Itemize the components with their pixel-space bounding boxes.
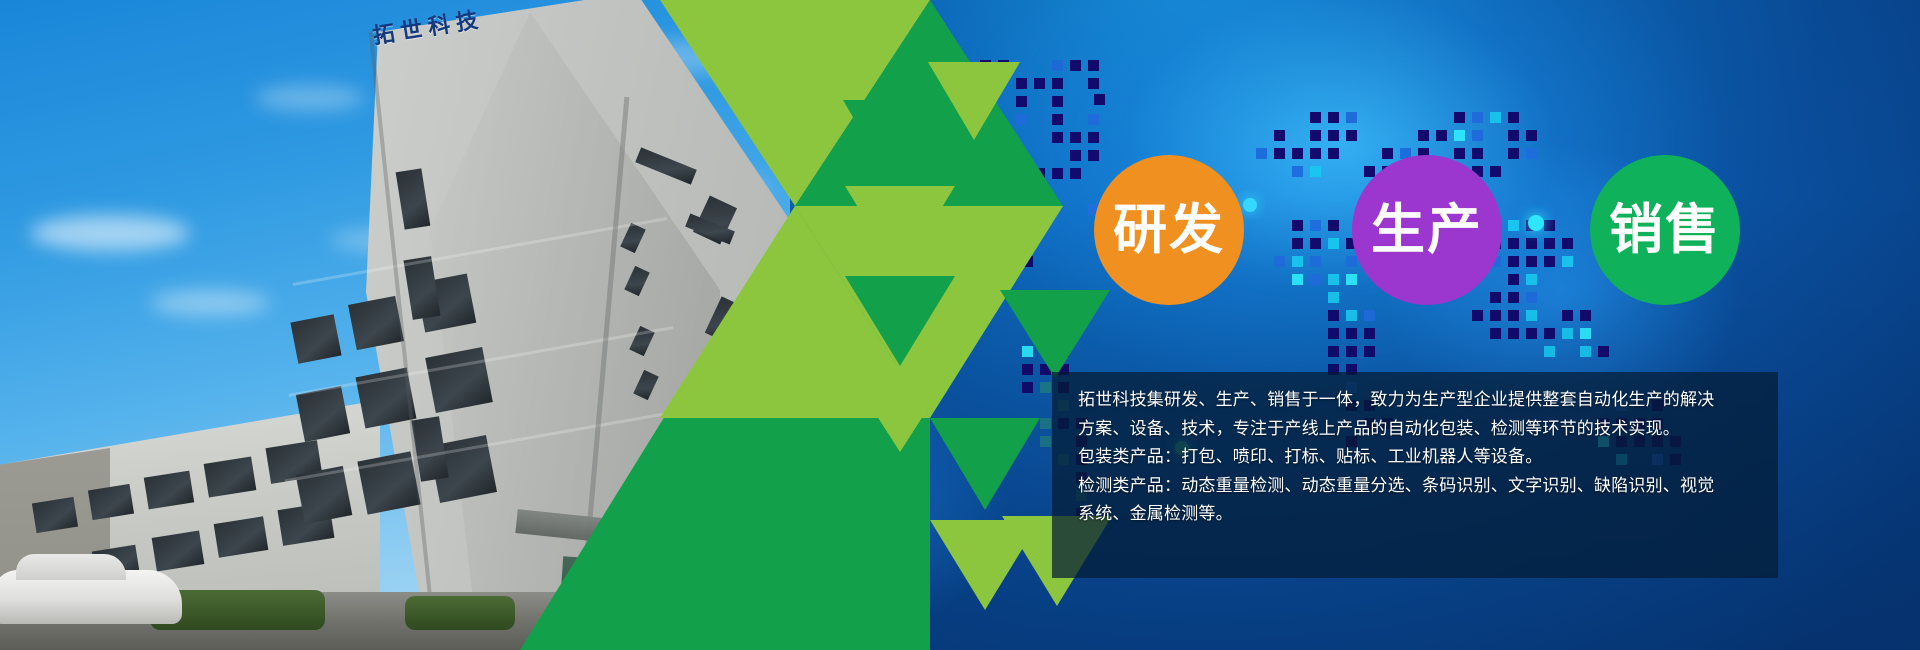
description-line-5: 系统、金属检测等。 [1078,500,1768,529]
circle-badge-rd[interactable]: 研发 [1094,155,1244,305]
factory-photo: 拓世科技 [0,0,790,650]
circle-label-production: 生产 [1371,203,1483,257]
cloud [30,215,190,251]
hedge [405,596,515,630]
description-line-1: 拓世科技集研发、生产、销售于一体，致力为生产型企业提供整套自动化生产的解决 [1078,386,1768,415]
description-line-3: 包装类产品：打包、喷印、打标、贴标、工业机器人等设备。 [1078,443,1768,472]
circle-badge-sales[interactable]: 销售 [1590,155,1740,305]
cloud [150,290,270,316]
circle-label-sales: 销售 [1609,203,1721,257]
description-text: 拓世科技集研发、生产、销售于一体，致力为生产型企业提供整套自动化生产的解决 方案… [1078,386,1768,529]
window [296,386,350,442]
window [290,314,341,364]
window [348,296,404,350]
window [425,347,493,413]
company-banner: 拓世科技 [0,0,1920,650]
description-line-2: 方案、设备、技术，专注于产线上产品的自动化包装、检测等环节的技术实现。 [1078,415,1768,444]
circle-label-rd: 研发 [1113,203,1225,257]
circle-badge-production[interactable]: 生产 [1352,155,1502,305]
hedge [690,586,790,630]
cloud [255,85,365,111]
description-line-4: 检测类产品：动态重量检测、动态重量分选、条码识别、文字识别、缺陷识别、视觉 [1078,472,1768,501]
parked-car [0,570,182,624]
